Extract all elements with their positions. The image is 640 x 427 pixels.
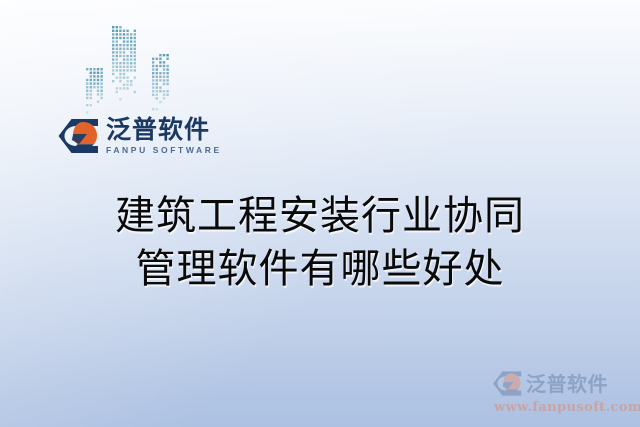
poster-canvas: 泛普软件 FANPU SOFTWARE 建筑工程安装行业协同 管理软件有哪些好处…: [0, 0, 640, 427]
brand-name-en: FANPU SOFTWARE: [106, 146, 222, 155]
brand-name-cn: 泛普软件: [106, 117, 222, 143]
page-title-line-1: 建筑工程安装行业协同: [0, 190, 640, 243]
page-title: 建筑工程安装行业协同 管理软件有哪些好处: [0, 190, 640, 296]
page-title-line-2: 管理软件有哪些好处: [0, 243, 640, 296]
pixel-buildings-icon: [86, 26, 196, 118]
watermark-name: 泛普软件: [526, 374, 608, 394]
fanpu-logo-icon: [57, 117, 99, 155]
watermark: 泛普软件 www.fanpusoft.com: [492, 370, 628, 415]
fanpu-logo-watermark-icon: [492, 370, 522, 397]
brand-lockup: 泛普软件 FANPU SOFTWARE: [57, 117, 222, 155]
brand-text-block: 泛普软件 FANPU SOFTWARE: [106, 117, 222, 155]
watermark-url: www.fanpusoft.com: [494, 400, 628, 415]
watermark-row: 泛普软件: [492, 370, 628, 397]
